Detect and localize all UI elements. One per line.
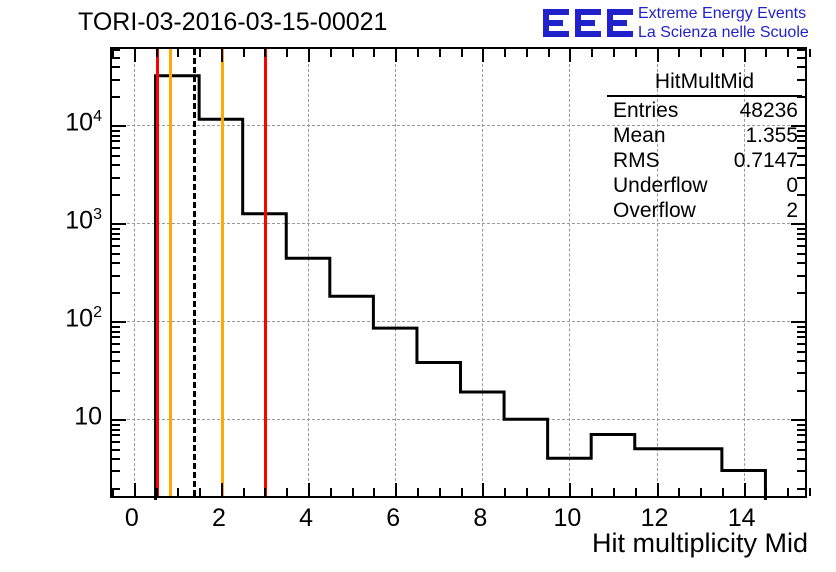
- x-tick-minor: [504, 488, 506, 496]
- stats-value: 0.7147: [734, 148, 798, 173]
- y-tick-minor: [797, 253, 805, 255]
- y-tick-minor: [112, 372, 120, 374]
- y-tick-minor: [797, 390, 805, 392]
- y-tick-minor: [797, 434, 805, 436]
- y-tick-minor: [112, 424, 120, 426]
- stats-row: Underflow0: [607, 173, 802, 198]
- y-tick-label: 102: [30, 305, 102, 334]
- x-tick-label: 8: [473, 504, 487, 533]
- y-tick-minor: [797, 49, 805, 51]
- x-tick-minor: [678, 488, 680, 496]
- x-tick-major: [134, 49, 136, 62]
- marker-line-threshold-orange-high: [221, 49, 224, 496]
- y-tick-minor: [797, 238, 805, 240]
- y-tick-major: [112, 321, 126, 323]
- stats-row: Overflow2: [607, 198, 802, 223]
- y-tick-minor: [112, 194, 120, 196]
- stats-key: RMS: [613, 148, 660, 173]
- x-tick-minor: [787, 49, 789, 57]
- x-tick-minor: [286, 488, 288, 496]
- y-tick-major: [112, 125, 126, 127]
- marker-line-threshold-red-low: [156, 49, 159, 496]
- y-tick-minor: [112, 390, 120, 392]
- x-tick-minor: [548, 49, 550, 57]
- stats-value: 48236: [740, 98, 798, 123]
- x-tick-minor: [264, 49, 266, 57]
- y-tick-minor: [112, 253, 120, 255]
- y-tick-minor: [797, 57, 805, 59]
- x-tick-label: 4: [299, 504, 313, 533]
- y-tick-minor: [797, 228, 805, 230]
- marker-line-threshold-red-high: [264, 49, 267, 496]
- stats-value: 2: [786, 198, 798, 223]
- x-tick-minor: [591, 488, 593, 496]
- x-axis-title: Hit multiplicity Mid: [592, 528, 808, 559]
- x-tick-minor: [765, 488, 767, 496]
- x-tick-minor: [526, 49, 528, 57]
- x-tick-minor: [199, 488, 201, 496]
- y-tick-minor: [797, 245, 805, 247]
- x-tick-minor: [591, 49, 593, 57]
- y-tick-minor: [797, 262, 805, 264]
- y-tick-minor: [112, 441, 120, 443]
- y-tick-minor: [112, 262, 120, 264]
- x-tick-minor: [373, 49, 375, 57]
- x-tick-minor: [439, 488, 441, 496]
- y-tick-minor: [112, 470, 120, 472]
- y-tick-minor: [112, 79, 120, 81]
- y-tick-minor: [112, 49, 120, 51]
- y-tick-major: [112, 223, 126, 225]
- y-tick-minor: [112, 233, 120, 235]
- y-tick-minor: [112, 147, 120, 149]
- x-tick-minor: [417, 488, 419, 496]
- y-tick-label: 104: [30, 109, 102, 138]
- x-tick-minor: [352, 488, 354, 496]
- y-tick-minor: [797, 441, 805, 443]
- stats-value: 1.355: [745, 123, 798, 148]
- y-tick-minor: [112, 66, 120, 68]
- y-tick-minor: [797, 372, 805, 374]
- y-tick-minor: [112, 351, 120, 353]
- y-tick-minor: [112, 164, 120, 166]
- y-tick-minor: [112, 155, 120, 157]
- x-tick-minor: [264, 488, 266, 496]
- x-tick-minor: [722, 49, 724, 57]
- x-tick-major: [395, 49, 397, 62]
- y-tick-minor: [797, 331, 805, 333]
- page-title: TORI-03-2016-03-15-00021: [78, 8, 387, 37]
- y-tick-major: [791, 321, 805, 323]
- y-tick-minor: [797, 66, 805, 68]
- y-tick-major: [791, 223, 805, 225]
- y-tick-minor: [112, 135, 120, 137]
- y-tick-minor: [112, 245, 120, 247]
- x-tick-major: [221, 483, 223, 496]
- stats-key: Underflow: [613, 173, 708, 198]
- x-tick-major: [134, 483, 136, 496]
- y-tick-minor: [797, 360, 805, 362]
- x-tick-minor: [765, 49, 767, 57]
- y-tick-minor: [112, 96, 120, 98]
- plot-canvas: TORI-03-2016-03-15-00021 Extreme Energy …: [0, 0, 836, 572]
- x-tick-minor: [613, 488, 615, 496]
- x-tick-minor: [635, 488, 637, 496]
- x-tick-minor: [177, 49, 179, 57]
- x-tick-minor: [199, 49, 201, 57]
- y-tick-minor: [112, 458, 120, 460]
- x-tick-major: [308, 49, 310, 62]
- stats-box: HitMultMid Entries48236Mean1.355RMS0.714…: [607, 70, 802, 223]
- x-tick-minor: [787, 488, 789, 496]
- y-tick-minor: [797, 424, 805, 426]
- x-tick-minor: [700, 49, 702, 57]
- y-tick-minor: [797, 233, 805, 235]
- y-tick-minor: [797, 326, 805, 328]
- y-tick-label: 10: [30, 403, 102, 432]
- x-tick-minor: [286, 49, 288, 57]
- y-tick-minor: [112, 331, 120, 333]
- marker-line-mean-dashed: [193, 49, 196, 496]
- eee-logo-line1: Extreme Energy Events: [638, 4, 809, 23]
- x-tick-minor: [504, 49, 506, 57]
- stats-box-title: HitMultMid: [607, 70, 802, 97]
- stats-rows: Entries48236Mean1.355RMS0.7147Underflow0…: [607, 98, 802, 223]
- x-tick-minor: [156, 488, 158, 496]
- y-tick-minor: [112, 429, 120, 431]
- y-tick-label: 103: [30, 207, 102, 236]
- stats-key: Mean: [613, 123, 666, 148]
- stats-row: RMS0.7147: [607, 148, 802, 173]
- y-tick-minor: [797, 429, 805, 431]
- y-tick-minor: [797, 336, 805, 338]
- x-tick-label: 2: [212, 504, 226, 533]
- x-tick-label: 6: [386, 504, 400, 533]
- y-tick-minor: [112, 343, 120, 345]
- stats-key: Overflow: [613, 198, 696, 223]
- x-tick-minor: [700, 488, 702, 496]
- y-tick-minor: [797, 292, 805, 294]
- y-tick-minor: [797, 343, 805, 345]
- x-tick-minor: [722, 488, 724, 496]
- eee-logo-text: Extreme Energy Events La Scienza nelle S…: [638, 4, 809, 42]
- x-tick-major: [569, 49, 571, 62]
- x-tick-major: [395, 483, 397, 496]
- x-tick-minor: [352, 49, 354, 57]
- y-tick-minor: [112, 336, 120, 338]
- y-tick-minor: [112, 177, 120, 179]
- x-tick-label: 10: [554, 504, 582, 533]
- stats-row: Entries48236: [607, 98, 802, 123]
- y-tick-major: [791, 419, 805, 421]
- y-tick-minor: [112, 449, 120, 451]
- y-tick-minor: [112, 326, 120, 328]
- x-tick-major: [221, 49, 223, 62]
- y-tick-minor: [112, 292, 120, 294]
- x-tick-minor: [417, 49, 419, 57]
- x-tick-minor: [809, 49, 811, 57]
- x-tick-minor: [177, 488, 179, 496]
- y-tick-minor: [797, 449, 805, 451]
- x-tick-major: [657, 483, 659, 496]
- marker-line-threshold-orange-low: [169, 49, 172, 496]
- y-tick-minor: [112, 140, 120, 142]
- x-tick-minor: [548, 488, 550, 496]
- x-tick-label: 0: [125, 504, 139, 533]
- y-tick-minor: [797, 275, 805, 277]
- x-tick-minor: [156, 49, 158, 57]
- y-tick-major: [112, 419, 126, 421]
- eee-logo-line2: La Scienza nelle Scuole: [638, 23, 809, 42]
- x-tick-minor: [439, 49, 441, 57]
- x-tick-major: [744, 49, 746, 62]
- x-tick-minor: [461, 488, 463, 496]
- y-tick-minor: [797, 488, 805, 490]
- y-tick-minor: [112, 275, 120, 277]
- x-tick-minor: [635, 49, 637, 57]
- y-tick-minor: [797, 351, 805, 353]
- y-tick-minor: [112, 360, 120, 362]
- x-tick-major: [308, 483, 310, 496]
- y-tick-minor: [112, 488, 120, 490]
- x-tick-major: [482, 483, 484, 496]
- x-tick-minor: [330, 49, 332, 57]
- y-tick-minor: [797, 458, 805, 460]
- stats-key: Entries: [613, 98, 678, 123]
- x-tick-minor: [243, 488, 245, 496]
- y-tick-minor: [112, 434, 120, 436]
- stats-row: Mean1.355: [607, 123, 802, 148]
- x-tick-minor: [330, 488, 332, 496]
- y-tick-minor: [797, 470, 805, 472]
- x-tick-minor: [373, 488, 375, 496]
- y-tick-minor: [112, 238, 120, 240]
- x-tick-minor: [678, 49, 680, 57]
- y-tick-minor: [112, 130, 120, 132]
- x-tick-major: [657, 49, 659, 62]
- y-tick-minor: [112, 57, 120, 59]
- y-tick-minor: [112, 228, 120, 230]
- x-tick-minor: [613, 49, 615, 57]
- x-tick-minor: [526, 488, 528, 496]
- stats-value: 0: [786, 173, 798, 198]
- x-tick-minor: [461, 49, 463, 57]
- x-tick-minor: [809, 488, 811, 496]
- x-tick-major: [744, 483, 746, 496]
- x-tick-minor: [243, 49, 245, 57]
- eee-logo: Extreme Energy Events La Scienza nelle S…: [543, 3, 833, 43]
- eee-letters-icon: [543, 5, 635, 43]
- x-tick-major: [569, 483, 571, 496]
- x-tick-major: [482, 49, 484, 62]
